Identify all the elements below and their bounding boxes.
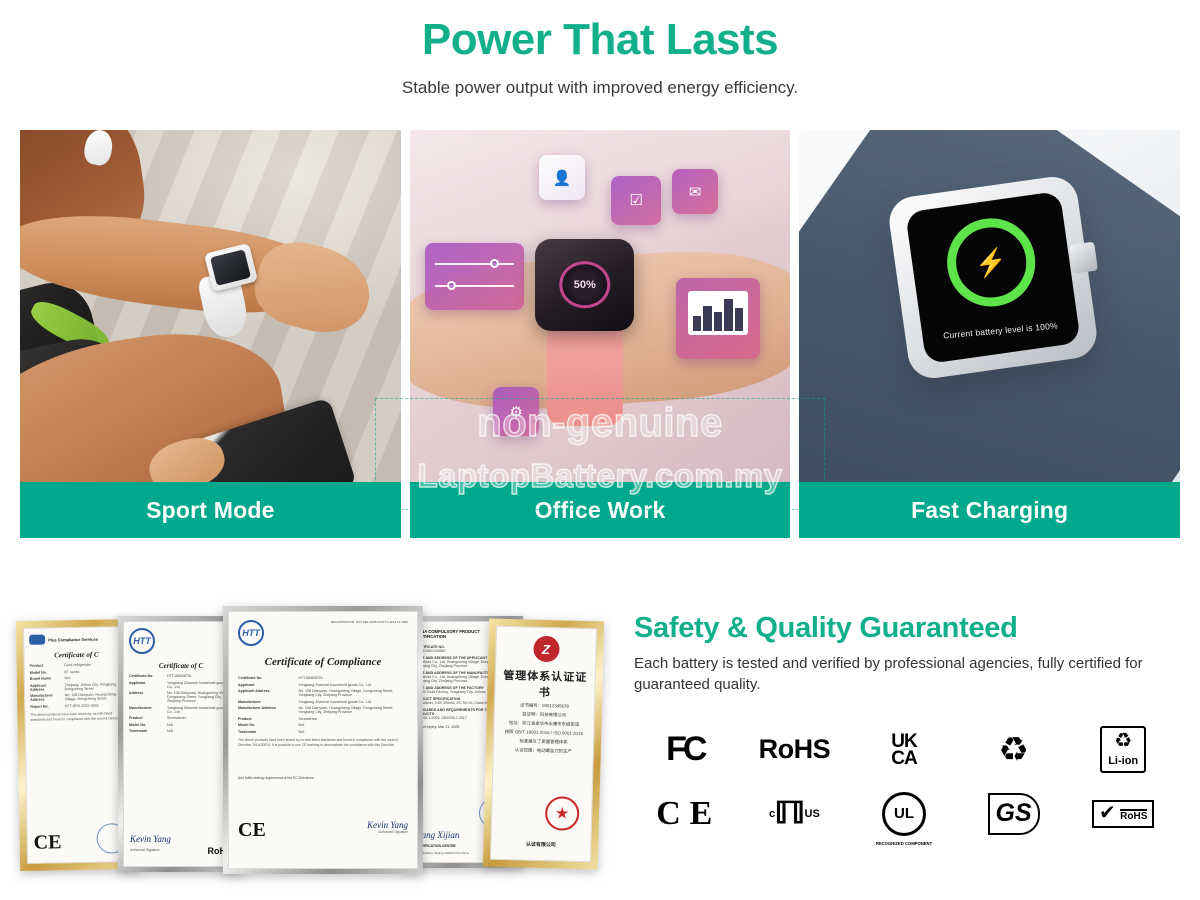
field-key: Certificate No.: [129, 674, 163, 678]
field-value: Screwdriver: [298, 717, 408, 721]
checkmark-icon: ✔: [1099, 802, 1116, 824]
ul-sub-label: RECOGNIZED COMPONENT: [869, 841, 939, 846]
field-key: Manufacturer Address: [238, 706, 294, 710]
field-key: Applicant: [129, 681, 163, 685]
cruus-icon: c ℿ US: [769, 796, 820, 831]
certificate-title: Certificate of C: [129, 662, 233, 670]
certificate-management-system[interactable]: Z 管理体系认证证书 证书编号：00012345678 兹证明：科技有限公司 地…: [483, 619, 604, 870]
field-value: Yongkang Zhaomei household goods Co., Lt…: [298, 700, 408, 704]
field-key: Model No.: [129, 723, 163, 727]
rohs-icon: RoHS: [759, 734, 831, 765]
rohs-check-badge: ✔ RoHS: [1072, 782, 1174, 846]
feature-card-row: Sport Mode 👤 ☑ ✉: [20, 130, 1180, 538]
checkbox-tile-icon: ☑: [611, 176, 660, 225]
htt-logo: HTT: [238, 620, 264, 646]
field-value: No. 108 Dianyuan, Huangcheng Village, Do…: [298, 689, 408, 697]
field-key: Product: [30, 663, 61, 668]
certificate-org-address: No.2 Building, Beijing 100029 P.R.China: [415, 851, 468, 855]
battery-level-text: Current battery level is 100%: [943, 321, 1058, 341]
ukca-badge: UK CA: [853, 718, 955, 782]
mail-tile-icon: ✉: [672, 169, 718, 215]
rohs-check-label: RoHS: [1120, 809, 1147, 822]
certificate-fields: Certificate No.HTT18060870L ApplicantYon…: [129, 674, 233, 733]
li-ion-label: Li-ion: [1108, 755, 1138, 767]
fast-charging-photo: ⚡ Current battery level is 100%: [799, 130, 1180, 482]
li-ion-box-icon: ♻ Li-ion: [1100, 726, 1146, 773]
watch-face: 50%: [559, 261, 610, 309]
card-caption-office-work: Office Work: [410, 482, 791, 538]
quality-description: Each battery is tested and verified by p…: [634, 653, 1174, 696]
certificate-line-cn: 按照 GB/T 19001-2016 / ISO 9001:2015: [500, 729, 587, 737]
field-value: N/A: [298, 723, 408, 727]
ukca-bottom: CA: [891, 750, 916, 767]
field-key: Manufacturer: [129, 706, 163, 710]
certificate-title: Certificate of Compliance: [238, 656, 408, 668]
watch-strap-shape: [547, 320, 623, 426]
field-value: No. 108 Dianyuan, Huangcheng Village, Do…: [65, 692, 125, 701]
certificate-note: The above products have been tested by u…: [30, 711, 124, 723]
ul-icon: UL RECOGNIZED COMPONENT: [882, 792, 926, 836]
feature-card-sport-mode[interactable]: Sport Mode: [20, 130, 401, 538]
battery-percent-label: 50%: [574, 279, 596, 291]
certificate-footer-cn: 认证有限公司: [491, 840, 590, 850]
signature-role: Authorized Signature: [367, 830, 408, 834]
rohs-badge: RoHS: [744, 718, 846, 782]
recycle-badge: ♻: [963, 718, 1065, 782]
quality-title: Safety & Quality Guaranteed: [634, 612, 1174, 645]
sport-mode-photo: [20, 130, 401, 482]
certificate-signature: Kevin Yang: [367, 820, 408, 830]
digital-crown-icon: [1070, 242, 1099, 274]
htt-logo: HTT: [129, 628, 155, 654]
field-key: Trademark: [238, 730, 294, 734]
certificate-issuer: Plus Compliance Services: [48, 636, 98, 642]
office-work-photo: 👤 ☑ ✉ ⚙ 50%: [410, 130, 791, 482]
ce-mark-icon: CE: [34, 831, 62, 853]
bottom-section: Plus Compliance Services Certificate of …: [0, 600, 1200, 900]
badge-row-2: C E c ℿ US UL RECOGNIZED COMPONENT: [634, 782, 1174, 846]
field-value: N/A: [298, 730, 408, 734]
field-key: Brand Name: [30, 676, 61, 681]
field-key: Applicant: [238, 683, 294, 687]
field-key: Manufacturer Address: [30, 693, 61, 702]
gs-icon: GS: [988, 793, 1040, 835]
ukca-icon: UK CA: [891, 733, 916, 767]
field-key: Model No.: [30, 670, 61, 675]
fc-icon: FC: [666, 730, 703, 769]
certificate-line-cn: 证书编号：00012345678: [501, 702, 588, 710]
sliders-tile-icon: [425, 243, 524, 310]
lightning-bolt-icon: ⚡: [973, 247, 1009, 277]
recycle-icon: ♻: [998, 733, 1028, 767]
smartwatch-body: 50%: [535, 239, 634, 331]
field-key: Certificate No.: [238, 676, 294, 680]
chart-tile-icon: [676, 278, 760, 359]
page-header: Power That Lasts Stable power output wit…: [0, 0, 1200, 98]
field-key: Manufacturer: [238, 700, 294, 704]
certificate-fields: Certificate No.HTT18060870L ApplicantYon…: [238, 676, 408, 734]
card-caption-fast-charging: Fast Charging: [799, 482, 1180, 538]
certification-badges: FC RoHS UK CA ♻: [634, 718, 1174, 846]
certificate-title-cn: 管理体系认证证书: [501, 667, 589, 701]
certificate-compliance-main[interactable]: HTT REGISTRATION: HTT-TEK-SCHULICH-3-119…: [223, 606, 423, 874]
quality-section: Safety & Quality Guaranteed Each battery…: [634, 612, 1174, 846]
ru-mark-icon: ℿ: [774, 796, 806, 831]
field-key: Address: [129, 691, 163, 695]
field-value: HTT18060870L: [298, 676, 408, 680]
page-title: Power That Lasts: [0, 16, 1200, 64]
field-value: BT series: [64, 669, 123, 674]
certificate-registration: REGISTRATION: HTT-TEK-SCHULICH-3-1191-11…: [309, 620, 408, 624]
ce-mark-icon: CE: [238, 819, 266, 841]
feature-card-office-work[interactable]: 👤 ☑ ✉ ⚙ 50%: [410, 130, 791, 538]
watch-screen: ⚡ Current battery level is 100%: [905, 191, 1081, 365]
field-key: Model No.: [238, 723, 294, 727]
field-key: Applicant Address: [30, 683, 61, 692]
field-key: Applicant Address: [238, 689, 294, 693]
li-ion-recycle-icon: ♻: [1108, 731, 1138, 751]
ce-badge: C E: [634, 782, 736, 846]
certificate-fields: ProductFood refrigerator Model No.BT ser…: [30, 662, 125, 708]
charging-ring-icon: ⚡: [942, 213, 1041, 312]
field-value: No. 108 Dianyuan, Huangcheng Village, Do…: [298, 706, 408, 714]
rohs-check-icon: ✔ RoHS: [1092, 800, 1154, 828]
contact-tile-icon: 👤: [539, 155, 585, 201]
certificate-footer: And fulfils testing requirement of the E…: [238, 776, 408, 780]
ul-badge: UL RECOGNIZED COMPONENT: [853, 782, 955, 846]
certificate-line-cn: 认证范围：电动螺丝刀的生产: [500, 747, 587, 755]
gear-tile-icon: ⚙: [493, 387, 539, 436]
fc-badge: FC: [634, 718, 736, 782]
field-value: N/A: [64, 675, 123, 680]
certificate-line-cn: 标准建立了质量管理体系: [500, 738, 587, 746]
field-key: Report No.: [30, 704, 61, 709]
field-value: Food refrigerator: [64, 662, 123, 667]
li-ion-badge: ♻ Li-ion: [1072, 718, 1174, 782]
feature-card-fast-charging[interactable]: ⚡ Current battery level is 100% Fast Cha…: [799, 130, 1180, 538]
red-seal-stamp: ★: [545, 796, 580, 831]
field-key: Product: [129, 716, 163, 720]
certificate-note: The above products have been tested by u…: [238, 738, 408, 748]
ul-label: UL: [894, 805, 914, 822]
field-key: Trademark: [129, 729, 163, 733]
certificate-title: Certificate of C: [29, 650, 123, 660]
card-caption-sport-mode: Sport Mode: [20, 482, 401, 538]
field-key: Product: [238, 717, 294, 721]
gs-badge: GS: [963, 782, 1065, 846]
ce-icon: C E: [656, 795, 713, 833]
cruus-suffix: US: [805, 808, 820, 820]
product-feature-page: Power That Lasts Stable power output wit…: [0, 0, 1200, 900]
smartwatch-body-silver: ⚡ Current battery level is 100%: [887, 174, 1101, 382]
field-value: HTT-ERX-2022-0033: [65, 703, 124, 708]
certificate-signature: Kevin Yang: [130, 834, 171, 844]
field-value: Zhejiang, Jinhua City, Yongkang, Dongche…: [65, 682, 125, 691]
ccc-logo: Z: [533, 636, 560, 663]
field-value: Yongkang Zhaomei household goods Co., Lt…: [298, 683, 408, 687]
certificate-line-cn: 兹证明：科技有限公司: [501, 711, 588, 719]
certificate-line-cn: 地址：浙江省金华市永康市东城街道: [500, 720, 587, 728]
page-subtitle: Stable power output with improved energy…: [0, 78, 1200, 98]
certificate-gallery: Plus Compliance Services Certificate of …: [18, 602, 598, 887]
cruus-badge: c ℿ US: [744, 782, 846, 846]
badge-row-1: FC RoHS UK CA ♻: [634, 718, 1174, 782]
signature-role: Authorized Signature: [130, 848, 160, 852]
